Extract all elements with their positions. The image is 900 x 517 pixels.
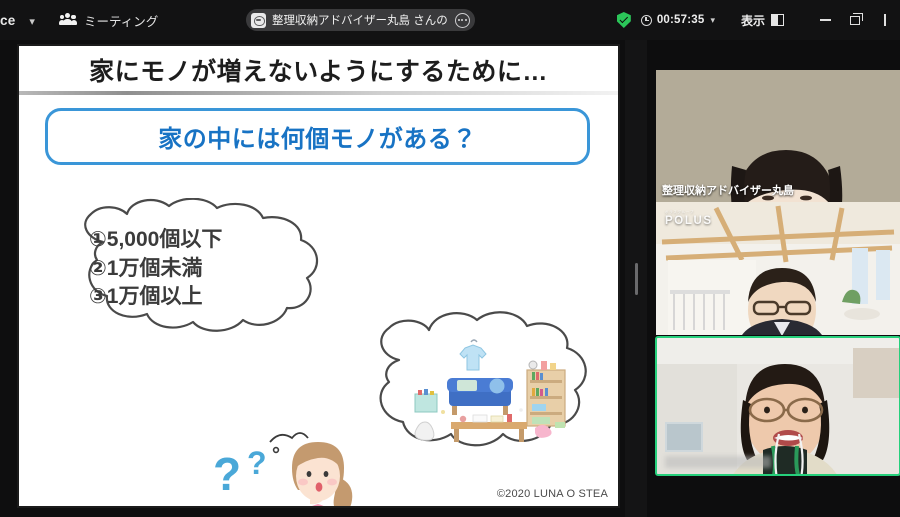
drag-handle-icon[interactable] <box>635 263 638 295</box>
video-tile-2[interactable]: ポラスグループ POLUS <box>656 202 900 335</box>
video-tile-1[interactable]: 整理収納アドバイザー丸島 <box>656 70 900 202</box>
answer-options: ①5,000個以下 ②1万個未満 ③1万個以上 <box>89 226 222 312</box>
title-divider <box>19 91 618 95</box>
minimize-icon[interactable] <box>810 8 840 32</box>
participant-name-label: 整理収納アドバイザー丸島 <box>662 182 794 198</box>
titlebar-right-group: 00:57:35 ▾ 表示 <box>617 0 900 40</box>
meeting-tab-label: ミーティング <box>84 11 158 30</box>
clock-icon <box>641 15 652 26</box>
shared-content-label: 整理収納アドバイザー丸島 さんの <box>272 12 448 28</box>
view-menu-label: 表示 <box>741 12 765 29</box>
presentation-slide: 家にモノが増えないようにするために… 家の中には何個モノがある？ ①5,000個… <box>17 44 620 508</box>
window-controls <box>810 8 900 32</box>
living-room-illustration <box>409 336 579 446</box>
meeting-timer: 00:57:35 <box>657 14 705 26</box>
polus-watermark: ポラスグループ POLUS <box>665 209 713 227</box>
shield-check-icon[interactable] <box>617 12 631 28</box>
chevron-down-icon[interactable]: ▾ <box>29 15 35 28</box>
question-text: 家の中には何個モノがある？ <box>158 119 477 154</box>
close-icon[interactable] <box>870 8 900 32</box>
video-feed-3 <box>657 338 899 474</box>
titlebar-left-group: ce ▾ ミーティング <box>0 0 158 40</box>
slide-copyright: ©2020 LUNA O STEA <box>497 488 608 500</box>
blurred-name-overlay <box>665 456 771 468</box>
shared-screen-stage[interactable]: 家にモノが増えないようにするために… 家の中には何個モノがある？ ①5,000個… <box>0 40 625 517</box>
shared-content-chip[interactable]: 整理収納アドバイザー丸島 さんの <box>246 9 475 31</box>
view-menu-button[interactable]: 表示 <box>741 12 784 29</box>
polus-watermark-sub: ポラスグループ <box>665 209 713 214</box>
answer-thought-bubble: ①5,000個以下 ②1万個未満 ③1万個以上 <box>67 198 357 338</box>
ellipsis-icon[interactable] <box>455 13 470 28</box>
question-box: 家の中には何個モノがある？ <box>45 108 590 165</box>
svg-text:?: ? <box>213 448 241 500</box>
panel-divider[interactable] <box>625 40 647 517</box>
video-tile-3-active-speaker[interactable] <box>655 336 900 476</box>
polus-watermark-text: POLUS <box>665 215 713 227</box>
meeting-tab[interactable]: ミーティング <box>59 11 158 30</box>
participant-video-panel: 整理収納アドバイザー丸島 <box>647 40 900 517</box>
timer-chevron-down-icon[interactable]: ▾ <box>710 15 715 26</box>
restore-icon[interactable] <box>840 8 870 32</box>
title-bar: ce ▾ ミーティング 整理収納アドバイザー丸島 さんの 00:57:35 ▾ <box>0 0 900 40</box>
meeting-window: ce ▾ ミーティング 整理収納アドバイザー丸島 さんの 00:57:35 ▾ <box>0 0 900 517</box>
layout-icon <box>771 14 784 26</box>
slide-title: 家にモノが増えないようにするために… <box>19 52 618 88</box>
presenter-icon <box>251 13 266 28</box>
thinking-woman-illustration <box>264 424 374 508</box>
people-icon <box>59 13 77 27</box>
account-name[interactable]: ce <box>0 13 15 28</box>
